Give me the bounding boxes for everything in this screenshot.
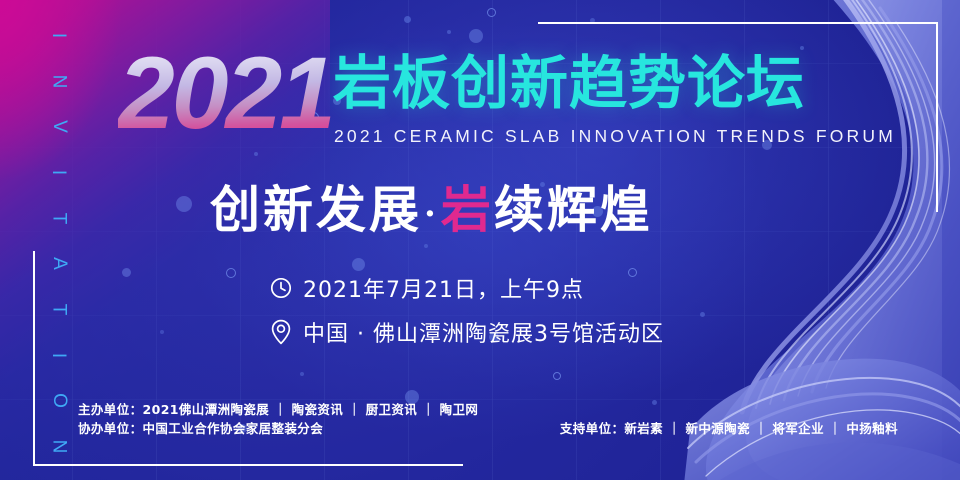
invitation-letter: A (50, 257, 69, 270)
footer-left-column: 主办单位：2021佛山潭洲陶瓷展 ｜ 陶瓷资讯 ｜ 厨卫资讯 ｜ 陶卫网 协办单… (78, 400, 478, 438)
invitation-letter: I (50, 33, 69, 38)
footer-organizer: 主办单位：2021佛山潭洲陶瓷展 ｜ 陶瓷资讯 ｜ 厨卫资讯 ｜ 陶卫网 (78, 400, 478, 419)
slogan-part-2: 续辉煌 (494, 180, 653, 239)
year-number: 2021 (118, 42, 333, 144)
event-poster: I N V I T A T I O N 2021 岩板创新趋势论坛 2021 C… (0, 0, 960, 480)
slogan: 创新发展·岩续辉煌 (210, 182, 653, 237)
slogan-part-1: 创新发展 (210, 180, 422, 239)
invitation-letter: N (49, 74, 68, 88)
location-pin-icon (268, 319, 294, 345)
invitation-letter: T (49, 304, 68, 316)
invitation-letter: V (50, 120, 69, 133)
event-meta: 2021年7月21日，上午9点 中国 · 佛山潭洲陶瓷展3号馆活动区 (268, 272, 664, 360)
footer-right-column: 支持单位：新岩素 ｜ 新中源陶瓷 ｜ 将军企业 ｜ 中扬釉料 (560, 419, 898, 438)
vertical-invitation-label: I N V I T A T I O N (46, 26, 72, 456)
event-date-text: 2021年7月21日，上午9点 (303, 272, 584, 304)
invitation-letter: I (50, 170, 69, 175)
invitation-letter: N (49, 440, 68, 454)
main-title-english: 2021 CERAMIC SLAB INNOVATION TRENDS FORU… (334, 126, 896, 147)
invitation-letter: O (50, 393, 69, 408)
footer: 主办单位：2021佛山潭洲陶瓷展 ｜ 陶瓷资讯 ｜ 厨卫资讯 ｜ 陶卫网 协办单… (78, 400, 920, 446)
slogan-separator-dot: · (422, 194, 441, 234)
slogan-highlight-char: 岩 (441, 180, 494, 239)
footer-supporter: 支持单位：新岩素 ｜ 新中源陶瓷 ｜ 将军企业 ｜ 中扬釉料 (560, 419, 898, 438)
main-title-chinese: 岩板创新趋势论坛 (333, 54, 805, 112)
event-location-row: 中国 · 佛山潭洲陶瓷展3号馆活动区 (268, 316, 664, 348)
footer-co-organizer: 协办单位：中国工业合作协会家居整装分会 (78, 419, 478, 438)
clock-icon (268, 275, 294, 301)
event-date-row: 2021年7月21日，上午9点 (268, 272, 664, 304)
invitation-letter: I (50, 352, 69, 357)
invitation-letter: T (49, 212, 68, 224)
event-location-text: 中国 · 佛山潭洲陶瓷展3号馆活动区 (303, 316, 664, 348)
headline-block: 2021 岩板创新趋势论坛 2021 CERAMIC SLAB INNOVATI… (118, 48, 868, 158)
